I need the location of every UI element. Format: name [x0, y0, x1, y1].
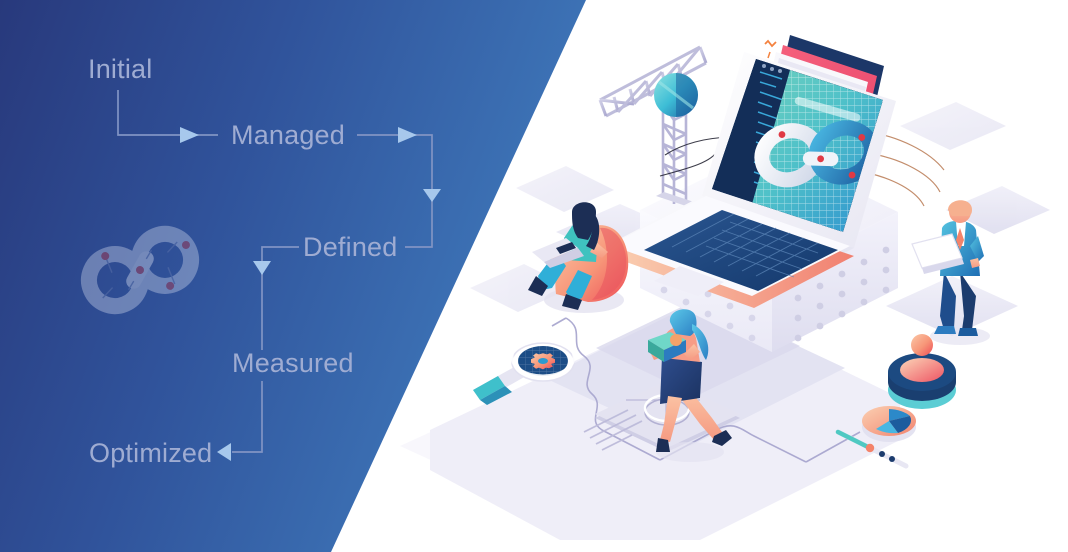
stage-label-optimized: Optimized: [89, 440, 212, 467]
stage-label-initial: Initial: [88, 56, 152, 83]
stage-label-measured: Measured: [232, 350, 354, 377]
stage-label-defined: Defined: [303, 234, 397, 261]
illustration-canvas: Initial Managed Defined Measured Optimiz…: [0, 0, 1068, 552]
left-blue-panel: [0, 0, 1068, 552]
stage-label-managed: Managed: [231, 122, 345, 149]
